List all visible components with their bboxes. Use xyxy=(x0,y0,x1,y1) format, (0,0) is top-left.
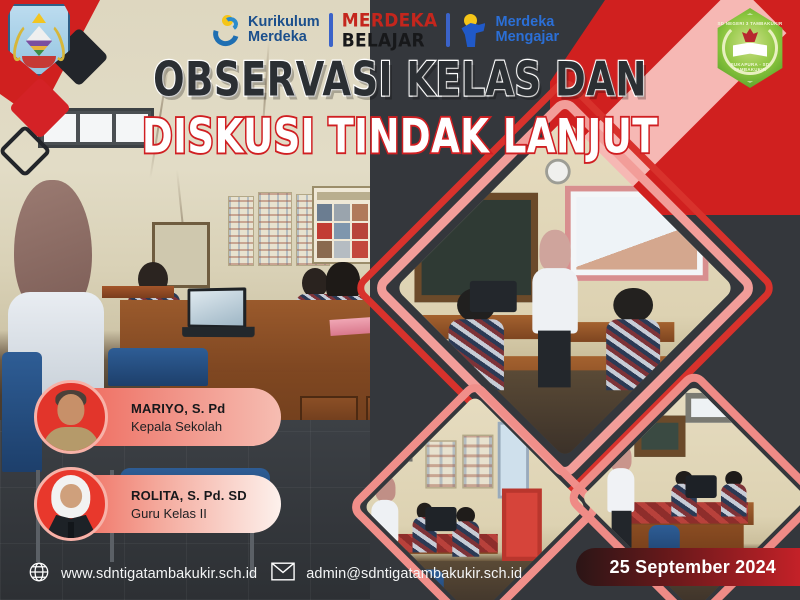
date-text: 25 September 2024 xyxy=(610,557,777,578)
person-role: Guru Kelas II xyxy=(131,506,247,521)
merdeka-mengajar-logo: Merdeka Mengajar xyxy=(459,13,559,47)
person-name: ROLITA, S. Pd. SD xyxy=(131,488,247,503)
program-logo-bar: Kurikulum Merdeka MERDEKA BELAJAR Merdek… xyxy=(212,6,559,54)
merdeka-belajar-line1: MERDEKA xyxy=(342,12,438,31)
merdeka-mengajar-line2: Mengajar xyxy=(495,30,559,45)
kurikulum-merdeka-mark-icon xyxy=(212,13,242,47)
name-card-teacher: ROLITA, S. Pd. SD Guru Kelas II xyxy=(46,475,281,533)
merdeka-belajar-line2: BELAJAR xyxy=(342,32,438,51)
person-name: MARIYO, S. Pd xyxy=(131,401,225,416)
person-role: Kepala Sekolah xyxy=(131,419,225,434)
footer-email: admin@sdntigatambakukir.sch.id xyxy=(271,562,522,586)
merdeka-mengajar-line1: Merdeka xyxy=(495,15,559,30)
website-text: www.sdntigatambakukir.sch.id xyxy=(61,566,257,582)
school-crest-top-text: SD NEGERI 3 TAMBAKUKIR xyxy=(714,21,786,26)
envelope-icon xyxy=(271,562,295,586)
avatar-rolita xyxy=(34,467,108,541)
poster-title: OBSERVASI KELAS DAN DISKUSI TINDAK LANJU… xyxy=(0,56,800,150)
email-text: admin@sdntigatambakukir.sch.id xyxy=(306,566,522,582)
logo-divider xyxy=(329,13,333,47)
kurikulum-merdeka-logo: Kurikulum Merdeka xyxy=(212,13,320,47)
kurikulum-merdeka-line2: Merdeka xyxy=(248,30,320,45)
title-line-1: OBSERVASI KELAS DAN xyxy=(0,56,800,103)
title-line-2: DISKUSI TINDAK LANJUT xyxy=(0,113,800,160)
kurikulum-merdeka-line1: Kurikulum xyxy=(248,15,320,30)
date-badge: 25 September 2024 xyxy=(576,548,800,586)
avatar-mariyo xyxy=(34,380,108,454)
logo-divider xyxy=(446,13,450,47)
name-card-headmaster: MARIYO, S. Pd Kepala Sekolah xyxy=(46,388,281,446)
photo3-pupil-b xyxy=(721,471,746,516)
main-photo-teacher xyxy=(531,230,579,387)
laptop-photo-element xyxy=(188,287,247,328)
merdeka-belajar-logo: MERDEKA BELAJAR xyxy=(342,12,438,48)
merdeka-mengajar-mark-icon xyxy=(459,13,489,47)
footer-website: www.sdntigatambakukir.sch.id xyxy=(28,561,257,588)
poster-canvas: SD NEGERI 3 TAMBAKUKIR SUKAPURA - SD TAM… xyxy=(0,0,800,600)
globe-icon xyxy=(28,561,50,588)
